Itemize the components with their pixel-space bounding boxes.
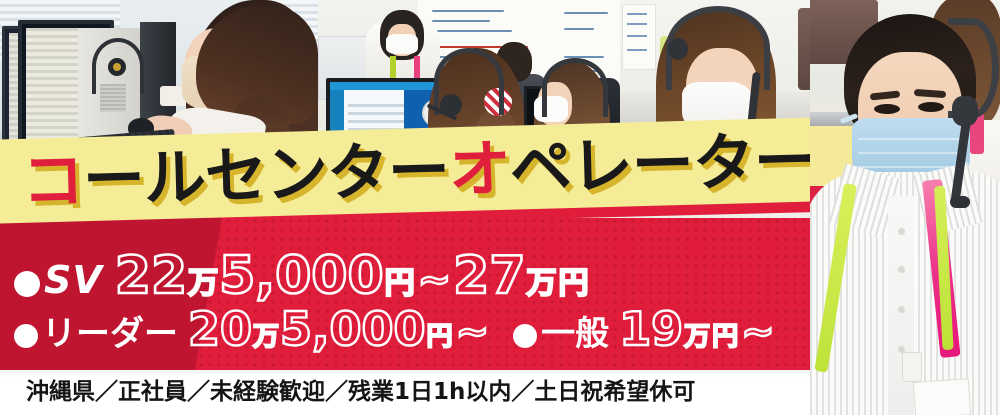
salary-minor-leader: 5,000 xyxy=(280,306,426,352)
salary-unit-man-max-sv: 万 xyxy=(527,269,557,299)
face-mask-icon xyxy=(386,34,418,54)
salary-major-leader: 20 xyxy=(188,306,252,352)
salary-label-leader: リーダー xyxy=(42,306,178,355)
shirt-button xyxy=(898,306,905,313)
salary-row-leader-general: リーダー 20 万 5,000 円 ~ 一般 19 万 円 ~ xyxy=(14,306,777,355)
person-eye xyxy=(918,102,944,112)
salary-range-mark-general: ~ xyxy=(741,312,775,352)
salary-unit-yen-max-sv: 円 xyxy=(559,269,589,299)
salary-unit-man-general: 万 xyxy=(684,324,710,350)
salary-unit-man-leader: 万 xyxy=(253,324,279,350)
title-segment-1: コ xyxy=(21,149,84,213)
salary-label-sv: SV xyxy=(44,258,103,302)
salary-row-sv: SV 22 万 5,000 円 ~ 27 万 円 xyxy=(14,250,590,302)
headset-mic xyxy=(950,196,970,208)
bullet-icon xyxy=(14,324,38,348)
salary-unit-yen-sv: 円 xyxy=(385,269,415,299)
app-titlebar xyxy=(330,82,434,90)
salary-max-sv: 27 xyxy=(453,250,525,302)
headset-dot xyxy=(113,63,121,71)
salary-minor-sv: 5,000 xyxy=(219,250,383,302)
salary-major-general: 19 xyxy=(619,306,683,352)
conditions-text: 沖縄県／正社員／未経験歓迎／残業1日1h以内／土日祝希望休可 xyxy=(26,372,695,406)
salary-range-mark-leader: ~ xyxy=(456,312,490,352)
headset-earpiece xyxy=(668,38,688,60)
person-eye xyxy=(874,104,900,114)
job-ad-banner: コールセンターオペレーター SV 22 万 5,000 円 ~ 27 万 円 リ… xyxy=(0,0,1000,415)
title-segment-2: ールセンター xyxy=(82,139,450,211)
salary-major-sv: 22 xyxy=(115,250,187,302)
salary-range-mark-sv: ~ xyxy=(418,260,452,300)
title-segment-4: ペレーター xyxy=(509,130,816,200)
photo-male-operator-portrait xyxy=(810,0,1000,415)
headset-icon xyxy=(542,58,608,117)
bullet-icon xyxy=(14,271,40,297)
bullet-icon xyxy=(513,324,537,348)
shirt-button xyxy=(898,266,905,273)
salary-unit-yen-general: 円 xyxy=(712,324,738,350)
salary-list: SV 22 万 5,000 円 ~ 27 万 円 リーダー 20 万 5,000… xyxy=(0,218,800,370)
lanyard-clip xyxy=(902,352,922,382)
salary-label-general: 一般 xyxy=(541,306,609,355)
salary-unit-man-sv: 万 xyxy=(188,269,218,299)
shirt-button xyxy=(898,228,905,235)
salary-unit-yen-leader: 円 xyxy=(427,324,453,350)
id-card-icon xyxy=(913,378,971,415)
wall-note xyxy=(622,4,656,70)
title-segment-3: オ xyxy=(448,138,511,202)
